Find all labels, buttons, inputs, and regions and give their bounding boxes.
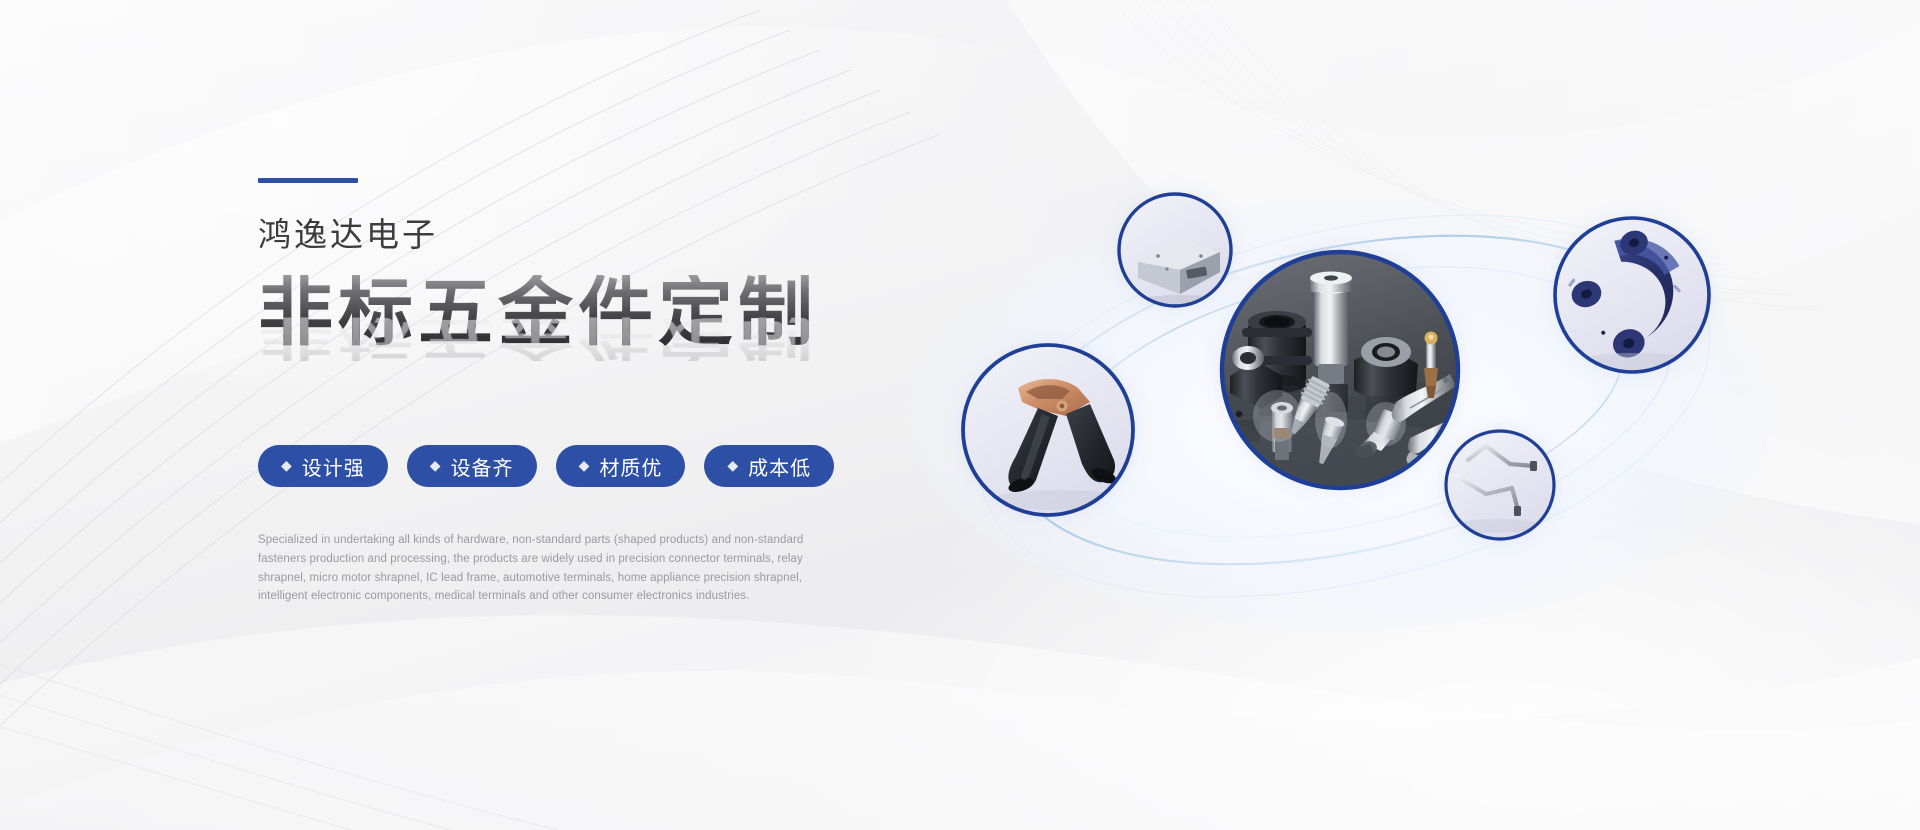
product-circle-retainer[interactable] xyxy=(1555,218,1709,372)
feature-tag-label: 成本低 xyxy=(748,452,811,481)
hero-content: 鸿逸达电子 非标五金件定制 非标五金件定制 ◆ 设计强 ◆ 设备齐 ◆ 材质优 … xyxy=(258,178,898,606)
product-circle-bent-pins[interactable] xyxy=(1446,431,1554,539)
headline-wrap: 非标五金件定制 非标五金件定制 xyxy=(258,275,898,393)
feature-tag-list: ◆ 设计强 ◆ 设备齐 ◆ 材质优 ◆ 成本低 xyxy=(258,445,898,487)
diamond-icon: ◆ xyxy=(430,458,442,472)
diamond-icon: ◆ xyxy=(579,458,591,472)
diamond-icon: ◆ xyxy=(281,458,293,472)
product-circle-clamp[interactable] xyxy=(963,345,1133,515)
feature-tag-label: 材质优 xyxy=(599,452,662,481)
feature-tag-design[interactable]: ◆ 设计强 xyxy=(258,445,388,487)
brand-name: 鸿逸达电子 xyxy=(258,217,898,253)
product-showcase xyxy=(890,170,1790,650)
product-circle-enclosure[interactable] xyxy=(1119,194,1231,309)
diamond-icon: ◆ xyxy=(727,458,739,472)
feature-tag-cost[interactable]: ◆ 成本低 xyxy=(704,445,834,487)
feature-tag-material[interactable]: ◆ 材质优 xyxy=(556,445,686,487)
accent-bar xyxy=(258,178,358,183)
page-title: 非标五金件定制 xyxy=(258,275,898,350)
hero-banner: 鸿逸达电子 非标五金件定制 非标五金件定制 ◆ 设计强 ◆ 设备齐 ◆ 材质优 … xyxy=(0,0,1920,830)
description-paragraph: Specialized in undertaking all kinds of … xyxy=(258,531,838,606)
feature-tag-label: 设备齐 xyxy=(451,452,514,481)
feature-tag-label: 设计强 xyxy=(302,452,365,481)
feature-tag-equipment[interactable]: ◆ 设备齐 xyxy=(407,445,537,487)
